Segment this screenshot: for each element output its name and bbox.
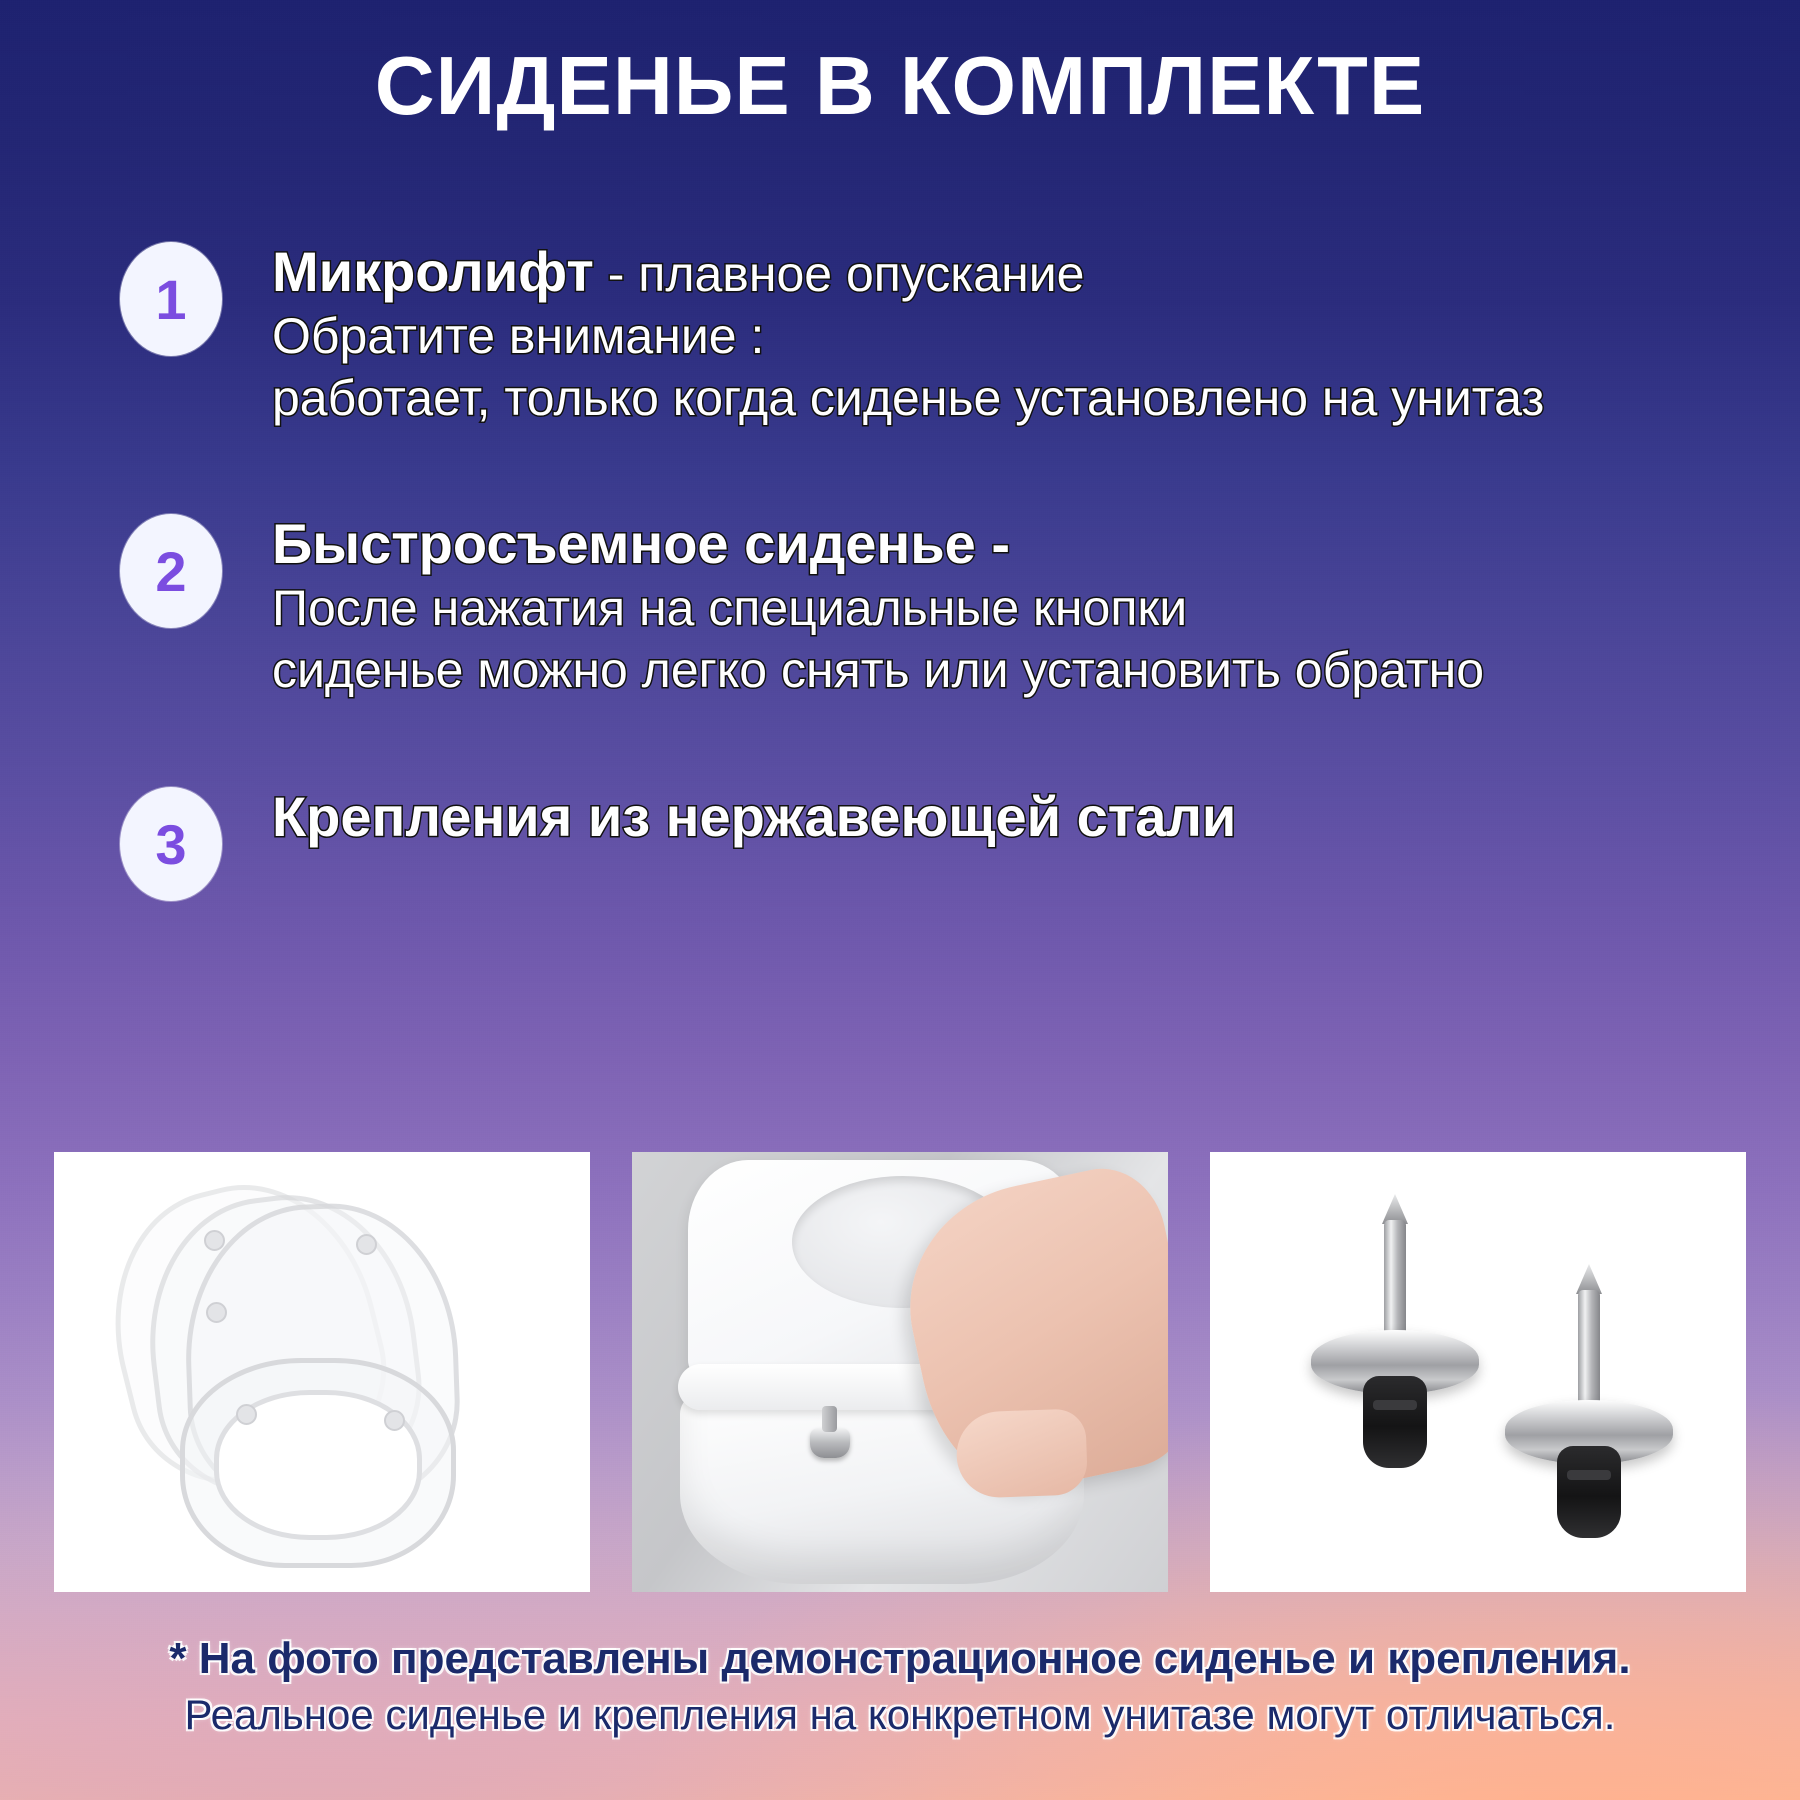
fixing-stem <box>1384 1220 1406 1340</box>
photo-seat-sequence <box>54 1152 590 1592</box>
photo-quick-release-press <box>632 1152 1168 1592</box>
page-title: СИДЕНЬЕ В КОМПЛЕКТЕ <box>0 42 1800 129</box>
product-infographic-poster: СИДЕНЬЕ В КОМПЛЕКТЕ 1 Микролифт - плавно… <box>0 0 1800 1800</box>
feature-number-badge-1: 1 <box>120 242 222 356</box>
feature-item-2: 2 Быстросъемное сиденье - После нажатия … <box>120 510 1760 701</box>
feature-number-badge-3: 3 <box>120 787 222 901</box>
fixing-stem <box>1578 1290 1600 1410</box>
seat-bumper-dot <box>236 1404 257 1425</box>
footer-line-2: Реальное сиденье и крепления на конкретн… <box>0 1687 1800 1744</box>
feature-heading-light-1: - плавное опускание <box>594 246 1085 302</box>
feature-line-2-1: После нажатия на специальные кнопки <box>272 577 1484 639</box>
feature-heading-strong-1: Микролифт <box>272 240 594 303</box>
feature-body-2: Быстросъемное сиденье - После нажатия на… <box>272 510 1484 701</box>
feature-line-2-2: сиденье можно легко снять или установить… <box>272 639 1484 701</box>
feature-heading-1: Микролифт - плавное опускание <box>272 240 1544 305</box>
seat-bumper-dot <box>204 1230 225 1251</box>
feature-heading-2: Быстросъемное сиденье - <box>272 512 1484 577</box>
seat-bumper-dot <box>206 1302 227 1323</box>
feature-number-badge-2: 2 <box>120 514 222 628</box>
seat-bumper-dot <box>356 1234 377 1255</box>
seat-bumper-dot <box>384 1410 405 1431</box>
feature-item-1: 1 Микролифт - плавное опускание Обратите… <box>120 238 1760 429</box>
footer-line-1: * На фото представлены демонстрационное … <box>0 1630 1800 1687</box>
fixing-rubber-boot <box>1557 1446 1621 1538</box>
photo-strip <box>0 1152 1800 1592</box>
feature-line-1-2: работает, только когда сиденье установле… <box>272 367 1544 429</box>
feature-heading-strong-3: Крепления из нержавеющей стали <box>272 785 1236 848</box>
fixing-bolt-left <box>810 1428 850 1458</box>
photo-steel-fixings <box>1210 1152 1746 1592</box>
feature-body-3: Крепления из нержавеющей стали <box>272 783 1236 850</box>
feature-line-1-1: Обратите внимание : <box>272 305 1544 367</box>
index-finger <box>955 1408 1088 1498</box>
feature-item-3: 3 Крепления из нержавеющей стали <box>120 783 1760 901</box>
fixing-rubber-boot <box>1363 1376 1427 1468</box>
feature-heading-3: Крепления из нержавеющей стали <box>272 785 1236 850</box>
footer-disclaimer: * На фото представлены демонстрационное … <box>0 1630 1800 1744</box>
feature-heading-strong-2: Быстросъемное сиденье - <box>272 512 1010 575</box>
feature-body-1: Микролифт - плавное опускание Обратите в… <box>272 238 1544 429</box>
